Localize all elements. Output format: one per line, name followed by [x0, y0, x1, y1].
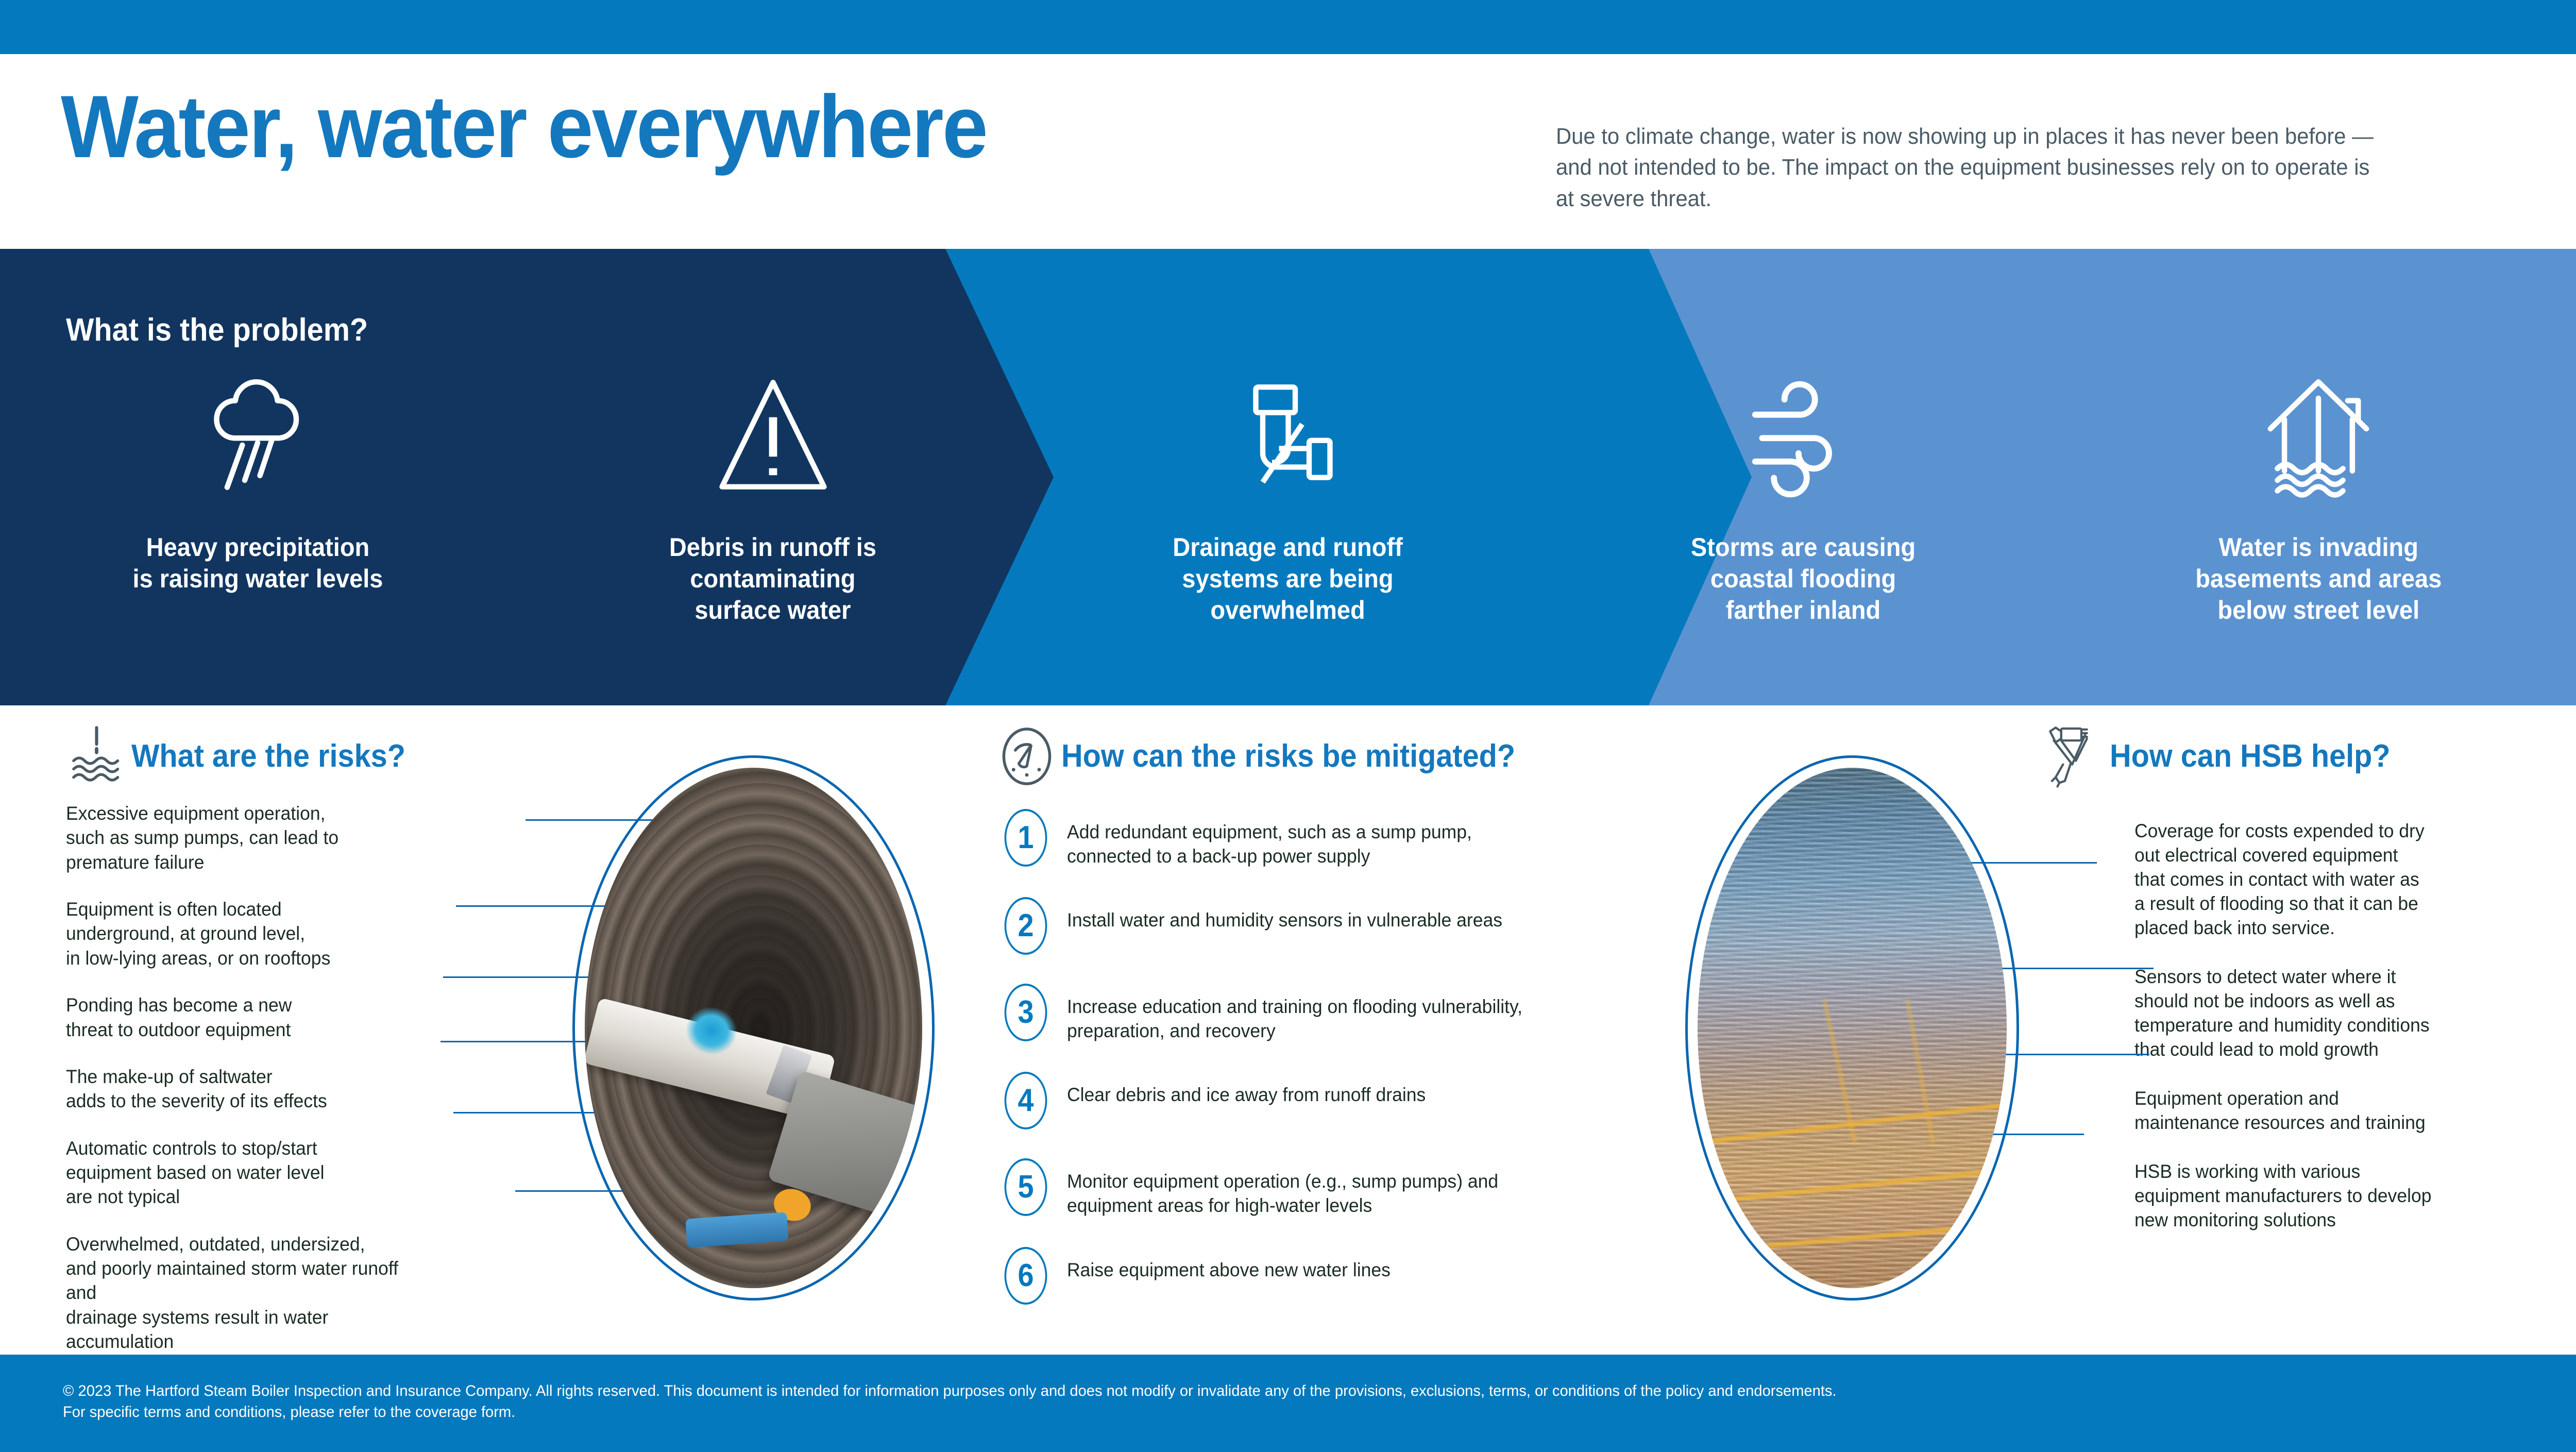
gauge-meter-icon	[992, 721, 1061, 791]
footer-disclaimer: © 2023 The Hartford Steam Boiler Inspect…	[63, 1380, 2412, 1423]
page-header: Water, water everywhere Due to climate c…	[0, 54, 2576, 249]
drain-pipe-icon	[1230, 360, 1346, 514]
problem-item-label: Water is invading basements and areas be…	[2195, 532, 2442, 626]
page-footer: © 2023 The Hartford Steam Boiler Inspect…	[0, 1355, 2576, 1452]
risk-item: Excessive equipment operation, such as s…	[66, 801, 412, 874]
mitigation-number: 5	[1005, 1158, 1047, 1216]
mitigation-section-title: How can the risks be mitigated?	[1061, 738, 1515, 774]
mitigation-text: Add redundant equipment, such as a sump …	[1067, 809, 1472, 868]
mitigation-number: 2	[1005, 897, 1047, 955]
hsb-section-title: How can HSB help?	[2110, 738, 2391, 774]
flooded-street-water-photo	[1698, 768, 2007, 1288]
mitigation-section-header: How can the risks be mitigated?	[992, 721, 1549, 791]
photo-image	[1698, 768, 2007, 1288]
mitigation-number: 3	[1005, 984, 1047, 1041]
hsb-item: Coverage for costs expended to dry out e…	[2134, 819, 2471, 940]
problem-items: Heavy precipitation is raising water lev…	[0, 249, 2576, 705]
road-marking	[1698, 1167, 2007, 1206]
risk-item: Overwhelmed, outdated, undersized, and p…	[66, 1232, 412, 1354]
page-title: Water, water everywhere	[61, 82, 987, 171]
risk-item: Equipment is often located underground, …	[66, 897, 412, 970]
hsb-list: Coverage for costs expended to dry out e…	[2134, 819, 2485, 1232]
mitigation-text: Raise equipment above new water lines	[1067, 1247, 1391, 1282]
rain-cloud-icon	[198, 360, 317, 514]
photo-clip	[585, 768, 922, 1288]
mitigation-item: 1 Add redundant equipment, such as a sum…	[1002, 809, 1620, 868]
problem-item: Drainage and runoff systems are being ov…	[1030, 249, 1546, 705]
connector-line	[440, 1041, 587, 1042]
intro-paragraph: Due to climate change, water is now show…	[1556, 121, 2388, 214]
problem-item: Water is invading basements and areas be…	[2061, 249, 2576, 705]
hsb-item: Equipment operation and maintenance reso…	[2134, 1087, 2471, 1135]
risk-item: Automatic controls to stop/start equipme…	[66, 1136, 412, 1209]
risks-section-header: What are the risks?	[62, 721, 426, 791]
mitigation-item: 2 Install water and humidity sensors in …	[1002, 897, 1620, 955]
connector-line	[456, 905, 605, 907]
problem-item: Heavy precipitation is raising water lev…	[0, 249, 515, 705]
risks-list: Excessive equipment operation, such as s…	[66, 801, 427, 1354]
problem-item-label: Debris in runoff is contaminating surfac…	[669, 532, 876, 626]
hsb-section-header: How can HSB help?	[2040, 721, 2412, 791]
mitigation-item: 3 Increase education and training on flo…	[1002, 984, 1620, 1043]
problem-item-label: Drainage and runoff systems are being ov…	[1173, 532, 1403, 626]
photo-clip	[1698, 768, 2007, 1288]
top-accent-bar	[0, 0, 2576, 54]
problem-item: Debris in runoff is contaminating surfac…	[515, 249, 1030, 705]
mitigation-text: Install water and humidity sensors in vu…	[1067, 897, 1502, 933]
road-marking	[1905, 999, 1936, 1145]
connector-line	[453, 1112, 603, 1113]
mitigation-number: 6	[1005, 1247, 1047, 1305]
mitigation-list: 1 Add redundant equipment, such as a sum…	[1002, 809, 1620, 1305]
problem-item-label: Storms are causing coastal flooding fart…	[1691, 532, 1916, 626]
helping-hands-icon	[2040, 721, 2110, 791]
photo-image	[585, 768, 922, 1288]
hsb-item: Sensors to detect water where it should …	[2134, 965, 2471, 1062]
mitigation-number: 4	[1005, 1072, 1047, 1129]
hose-shape	[685, 1212, 788, 1247]
mitigation-text: Increase education and training on flood…	[1067, 984, 1522, 1043]
sump-pump-manhole-photo	[585, 768, 922, 1288]
wind-storm-icon	[1739, 360, 1868, 514]
warning-triangle-icon	[715, 360, 831, 514]
mitigation-number: 1	[1005, 809, 1047, 867]
problem-item: Storms are causing coastal flooding fart…	[1546, 249, 2061, 705]
mitigation-item: 6 Raise equipment above new water lines	[1002, 1247, 1620, 1305]
mitigation-text: Clear debris and ice away from runoff dr…	[1067, 1072, 1426, 1107]
connector-line	[1999, 968, 2154, 969]
flooded-house-icon	[2254, 360, 2383, 514]
connector-line	[443, 976, 592, 978]
mitigation-text: Monitor equipment operation (e.g., sump …	[1067, 1158, 1498, 1218]
hsb-item: HSB is working with various equipment ma…	[2134, 1160, 2471, 1232]
problem-item-label: Heavy precipitation is raising water lev…	[132, 532, 383, 595]
risk-item: Ponding has become a new threat to outdo…	[66, 993, 412, 1042]
mitigation-item: 4 Clear debris and ice away from runoff …	[1002, 1072, 1620, 1129]
risk-item: The make-up of saltwater adds to the sev…	[66, 1065, 412, 1113]
risks-section-title: What are the risks?	[131, 738, 405, 774]
mitigation-item: 5 Monitor equipment operation (e.g., sum…	[1002, 1158, 1620, 1218]
water-level-gauge-icon	[62, 721, 131, 791]
